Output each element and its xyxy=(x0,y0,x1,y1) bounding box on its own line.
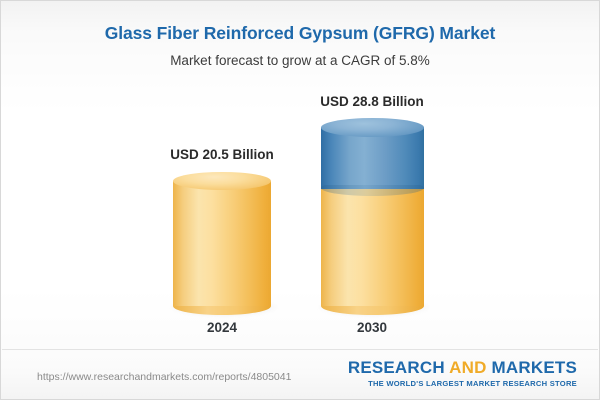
bar-top-cap-2030 xyxy=(321,118,424,137)
value-label-2024: USD 20.5 Billion xyxy=(112,147,332,162)
logo-word-research: RESEARCH xyxy=(348,358,445,377)
infographic-card: Glass Fiber Reinforced Gypsum (GFRG) Mar… xyxy=(0,0,600,400)
report-url[interactable]: https://www.researchandmarkets.com/repor… xyxy=(37,371,291,383)
value-label-2030: USD 28.8 Billion xyxy=(262,94,482,109)
bar-top-cap-2024 xyxy=(173,172,271,190)
logo-wordmark: RESEARCH AND MARKETS xyxy=(348,359,577,377)
bar-segment-2030-base-overlay xyxy=(321,187,424,306)
bar-chart: USD 20.5 Billion 2024 USD 28.8 Billion xyxy=(1,1,600,401)
logo-word-markets: MARKETS xyxy=(492,358,577,377)
logo-word-and: AND xyxy=(449,358,486,377)
research-and-markets-logo[interactable]: RESEARCH AND MARKETS THE WORLD'S LARGEST… xyxy=(348,359,577,388)
bar-segment-2024-base-overlay xyxy=(173,181,271,306)
logo-tagline: THE WORLD'S LARGEST MARKET RESEARCH STOR… xyxy=(348,379,577,388)
category-label-2030: 2030 xyxy=(262,320,482,335)
footer-divider xyxy=(2,349,598,350)
